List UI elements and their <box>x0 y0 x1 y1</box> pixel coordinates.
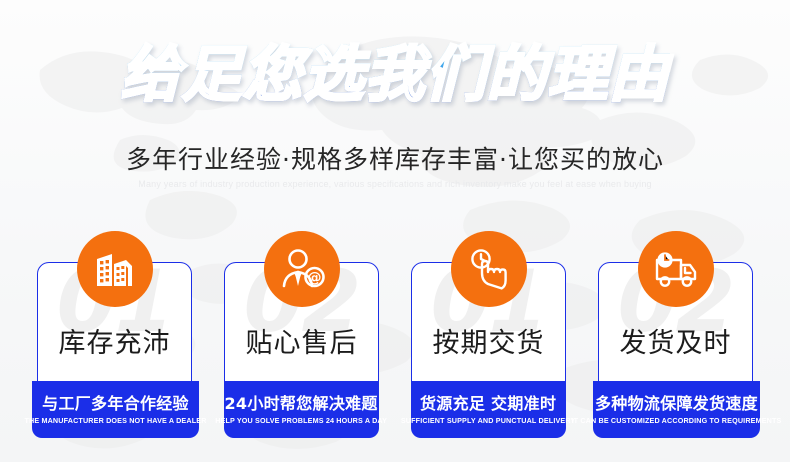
card-banner-english: It can be customized according to requir… <box>571 416 781 425</box>
card-banner-english: The manufacturer does not have a dealer <box>24 416 206 425</box>
card-title: 发货及时 <box>599 321 752 360</box>
card-banner-english: Sufficient supply and punctual delivery <box>401 416 576 425</box>
card-banner-chinese: 多种物流保障发货速度 <box>595 395 758 413</box>
promo-banner: 给足您选我们的理由 多年行业经验·规格多样库存丰富·让您买的放心 Many ye… <box>0 0 790 462</box>
card-title: 库存充沛 <box>38 321 191 360</box>
card-banner: 货源充足 交期准时 Sufficient supply and punctual… <box>411 381 566 438</box>
card-banner: 多种物流保障发货速度 It can be customized accordin… <box>593 381 760 438</box>
feature-card-on-time-delivery[interactable]: 01 按期交货 货源充足 交期准时 Sufficient supply and … <box>411 262 566 438</box>
card-title: 按期交货 <box>412 321 565 360</box>
feature-card-after-sales[interactable]: 02 @ 贴心售后 24小时帮您解决难题 Help you solve prob… <box>224 262 379 438</box>
feature-card-fast-shipping[interactable]: 02 发货及时 多种物流保障 <box>598 262 753 438</box>
clock-pointing-hand-icon <box>451 231 527 307</box>
card-banner: 与工厂多年合作经验 The manufacturer does not have… <box>32 381 199 438</box>
card-banner-chinese: 与工厂多年合作经验 <box>42 395 189 413</box>
card-banner: 24小时帮您解决难题 Help you solve problems 24 ho… <box>224 381 379 438</box>
delivery-truck-clock-icon <box>638 231 714 307</box>
card-banner-english: Help you solve problems 24 hours a day <box>215 416 387 425</box>
support-agent-at-icon: @ <box>264 231 340 307</box>
feature-card-list: 01 <box>37 262 753 438</box>
subtitle-chinese: 多年行业经验·规格多样库存丰富·让您买的放心 <box>0 140 790 176</box>
headline-container: 给足您选我们的理由 <box>0 44 790 107</box>
card-title: 贴心售后 <box>225 321 378 360</box>
svg-text:@: @ <box>307 270 321 286</box>
card-banner-chinese: 24小时帮您解决难题 <box>224 395 377 413</box>
subtitle-english: Many years of industry production experi… <box>0 179 790 189</box>
page-title: 给足您选我们的理由 <box>121 44 670 107</box>
card-banner-chinese: 货源充足 交期准时 <box>420 395 556 413</box>
office-building-icon <box>77 231 153 307</box>
feature-card-inventory[interactable]: 01 <box>37 262 192 438</box>
